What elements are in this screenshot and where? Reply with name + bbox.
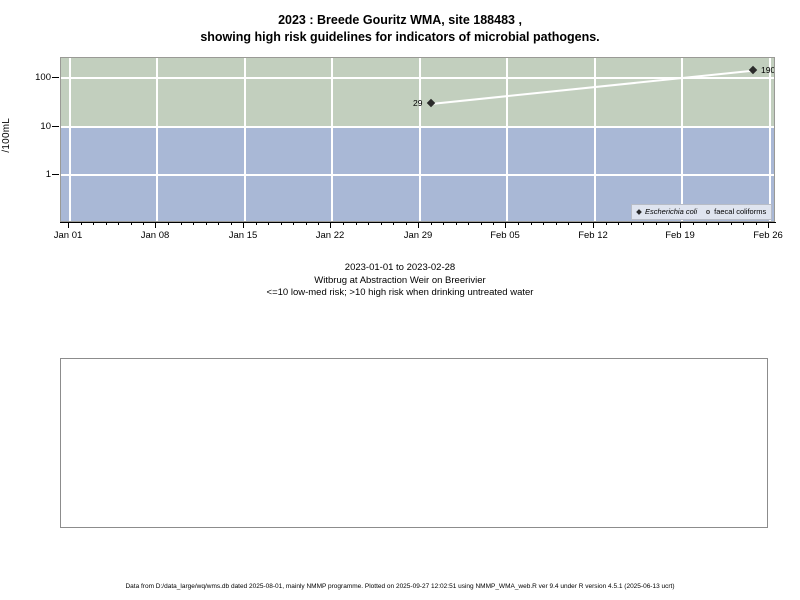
gridline-vertical-jan-01 xyxy=(69,58,71,221)
x-axis-tick-minor-45 xyxy=(718,222,719,225)
data-point-label-190: 190 xyxy=(761,66,775,75)
x-axis-tick-minor-4 xyxy=(118,222,119,225)
gridline-vertical-feb-05 xyxy=(506,58,508,221)
x-axis-tick-label-feb-05: Feb 05 xyxy=(475,231,535,241)
high-risk-band xyxy=(61,58,774,127)
page-title-line-1: 2023 : Breede Gouritz WMA, site 188483 , xyxy=(0,12,800,29)
x-axis-tick-minor-27 xyxy=(456,222,457,225)
gridline-vertical-jan-22 xyxy=(331,58,333,221)
data-point-label-29: 29 xyxy=(413,99,422,108)
x-axis-tick-label-jan-08: Jan 08 xyxy=(125,231,185,241)
x-axis-tick-minor-31 xyxy=(518,222,519,225)
y-axis-tick-label-1: 1 xyxy=(46,170,51,180)
x-axis-tick-minor-21 xyxy=(368,222,369,225)
legend-entry-escherichia-coli[interactable]: Escherichia coli xyxy=(637,208,697,216)
x-axis-tick-minor-41 xyxy=(656,222,657,225)
x-axis-tick-minor-5 xyxy=(131,222,132,225)
x-axis-tick-label-jan-22: Jan 22 xyxy=(300,231,360,241)
x-axis-tick-label-feb-19: Feb 19 xyxy=(650,231,710,241)
x-axis-tick-mark-feb-05 xyxy=(505,222,506,228)
chart-legend: Escherichia coli faecal coliforms xyxy=(631,204,772,220)
x-axis-tick-mark-feb-26 xyxy=(768,222,769,228)
gridline-vertical-feb-heb-26 xyxy=(769,58,771,221)
x-axis-tick-minor-23 xyxy=(393,222,394,225)
x-axis-tick-minor-42 xyxy=(668,222,669,225)
x-axis-tick-minor-15 xyxy=(281,222,282,225)
x-axis-tick-minor-11 xyxy=(218,222,219,225)
gridline-horizontal-10 xyxy=(61,126,774,128)
x-axis-tick-minor-47 xyxy=(743,222,744,225)
chart-caption: 2023-01-01 to 2023-02-28 Witbrug at Abst… xyxy=(0,262,800,300)
x-axis-tick-minor-16 xyxy=(293,222,294,225)
x-axis-tick-mark-feb-19 xyxy=(680,222,681,228)
x-axis-tick-minor-30 xyxy=(493,222,494,225)
x-axis-tick-minor-12 xyxy=(231,222,232,225)
x-axis-tick-minor-26 xyxy=(443,222,444,225)
x-axis-tick-minor-18 xyxy=(318,222,319,225)
x-axis-tick-minor-43 xyxy=(693,222,694,225)
x-axis-tick-minor-33 xyxy=(543,222,544,225)
page-title: 2023 : Breede Gouritz WMA, site 188483 ,… xyxy=(0,12,800,46)
x-axis-tick-minor-39 xyxy=(631,222,632,225)
x-axis-tick-minor-40 xyxy=(643,222,644,225)
x-axis-tick-minor-35 xyxy=(568,222,569,225)
x-axis-tick-label-jan-15: Jan 15 xyxy=(213,231,273,241)
x-axis-tick-minor-20 xyxy=(356,222,357,225)
gridline-vertical-feb-19 xyxy=(681,58,683,221)
secondary-empty-panel xyxy=(60,358,768,528)
y-axis-tick-mark-1 xyxy=(52,174,59,175)
x-axis-tick-mark-jan-15 xyxy=(243,222,244,228)
gridline-vertical-jan-15 xyxy=(244,58,246,221)
x-axis-tick-minor-13 xyxy=(256,222,257,225)
x-axis-tick-minor-22 xyxy=(381,222,382,225)
x-axis-tick-label-feb-12: Feb 12 xyxy=(563,231,623,241)
x-axis-tick-minor-44 xyxy=(706,222,707,225)
x-axis-tick-minor-17 xyxy=(306,222,307,225)
x-axis-tick-minor-24 xyxy=(406,222,407,225)
footer-source-note: Data from D:/data_large/wq/wms.db dated … xyxy=(0,583,800,591)
y-axis-tick-label-100: 100 xyxy=(35,73,51,83)
gridline-vertical-feb-12 xyxy=(594,58,596,221)
legend-entry-faecal-coliforms[interactable]: faecal coliforms xyxy=(706,208,766,216)
x-axis-tick-minor-34 xyxy=(556,222,557,225)
x-axis-tick-minor-25 xyxy=(431,222,432,225)
x-axis-tick-label-jan-01: Jan 01 xyxy=(38,231,98,241)
gridline-vertical-jan-08 xyxy=(156,58,158,221)
gridline-horizontal-1 xyxy=(61,174,774,176)
open-circle-icon xyxy=(706,210,710,214)
x-axis-tick-minor-32 xyxy=(531,222,532,225)
gridline-vertical-jan-29 xyxy=(419,58,421,221)
x-axis-tick-minor-6 xyxy=(143,222,144,225)
x-axis-tick-mark-feb-12 xyxy=(593,222,594,228)
x-axis-tick-minor-14 xyxy=(268,222,269,225)
y-axis-tick-mark-10 xyxy=(52,126,59,127)
x-axis-tick-minor-19 xyxy=(343,222,344,225)
x-axis-tick-mark-jan-29 xyxy=(418,222,419,228)
x-axis-tick-minor-38 xyxy=(618,222,619,225)
filled-diamond-icon xyxy=(636,209,642,215)
x-axis-tick-minor-37 xyxy=(606,222,607,225)
caption-line-risk-note: <=10 low-med risk; >10 high risk when dr… xyxy=(0,287,800,300)
x-axis-tick-minor-10 xyxy=(206,222,207,225)
page-title-line-2: showing high risk guidelines for indicat… xyxy=(0,29,800,46)
x-axis-tick-minor-8 xyxy=(181,222,182,225)
y-axis-title: /100mL xyxy=(1,118,12,153)
y-axis-tick-mark-100 xyxy=(52,77,59,78)
x-axis-tick-label-feb-26: Feb 26 xyxy=(738,231,798,241)
x-axis-tick-minor-9 xyxy=(193,222,194,225)
x-axis-tick-minor-3 xyxy=(106,222,107,225)
legend-label-escherichia-coli: Escherichia coli xyxy=(645,208,697,216)
caption-line-date-range: 2023-01-01 to 2023-02-28 xyxy=(0,262,800,275)
x-axis-tick-minor-48 xyxy=(756,222,757,225)
legend-label-faecal-coliforms: faecal coliforms xyxy=(714,208,766,216)
caption-line-site-name: Witbrug at Abstraction Weir on Breerivie… xyxy=(0,275,800,288)
x-axis-tick-minor-28 xyxy=(468,222,469,225)
chart-plot-area: 29 190 xyxy=(60,57,775,222)
x-axis-tick-minor-29 xyxy=(481,222,482,225)
x-axis-tick-mark-jan-08 xyxy=(155,222,156,228)
x-axis-tick-mark-jan-22 xyxy=(330,222,331,228)
x-axis-tick-minor-46 xyxy=(731,222,732,225)
x-axis-tick-minor-7 xyxy=(168,222,169,225)
y-axis-tick-label-10: 10 xyxy=(40,122,51,132)
x-axis-tick-minor-36 xyxy=(581,222,582,225)
x-axis-tick-minor-2 xyxy=(93,222,94,225)
x-axis-tick-label-jan-29: Jan 29 xyxy=(388,231,448,241)
x-axis-tick-minor-1 xyxy=(81,222,82,225)
x-axis-tick-mark-jan-01 xyxy=(68,222,69,228)
